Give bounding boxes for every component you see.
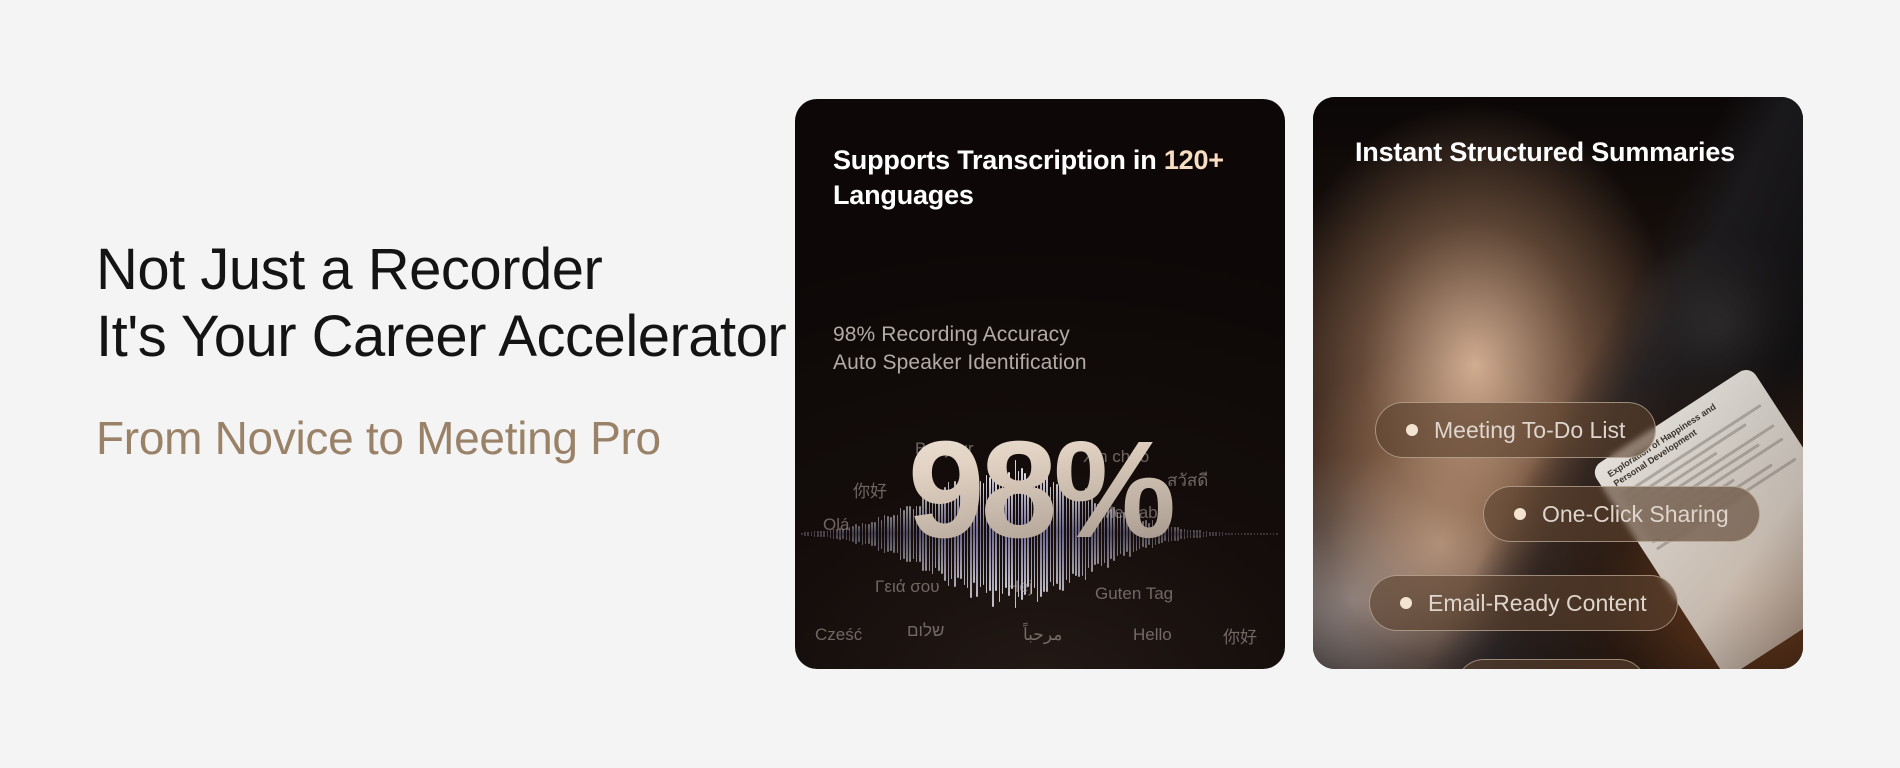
chip-email-ready-content[interactable]: Email-Ready Content xyxy=(1369,575,1678,631)
language-greeting: Hej xyxy=(1007,577,1033,597)
card-transcription-title-before: Supports Transcription in xyxy=(833,145,1164,175)
subheadline: From Novice to Meeting Pro xyxy=(96,413,796,464)
card-transcription-title-accent: 120+ xyxy=(1164,145,1224,175)
hero-section: Not Just a Recorder It's Your Career Acc… xyxy=(0,0,1900,768)
bullet-dot-icon xyxy=(1400,597,1412,609)
language-greeting: שלום xyxy=(907,621,944,641)
chip-label: Meeting To-Do List xyxy=(1434,417,1625,444)
card-transcription-title-after: Languages xyxy=(833,180,974,210)
card-summaries-title: Instant Structured Summaries xyxy=(1355,137,1735,168)
language-greeting: Hello xyxy=(1133,625,1172,645)
card-summaries[interactable]: Exploration of Happiness and Personal De… xyxy=(1313,97,1803,669)
chip-one-click-sharing[interactable]: One-Click Sharing xyxy=(1483,486,1760,542)
card-transcription-subtitle: 98% Recording Accuracy Auto Speaker Iden… xyxy=(833,321,1087,378)
headline-block: Not Just a Recorder It's Your Career Acc… xyxy=(96,236,796,463)
chip-mind-map[interactable]: Mind Map xyxy=(1456,659,1647,669)
language-greeting: Γειά σου xyxy=(875,577,940,597)
accuracy-stat: 98% xyxy=(795,421,1285,559)
language-greeting: Cześć xyxy=(815,625,862,645)
subtitle-speaker-id: Auto Speaker Identification xyxy=(833,349,1087,377)
card-transcription[interactable]: Supports Transcription in 120+ Languages… xyxy=(795,99,1285,669)
language-greeting: Guten Tag xyxy=(1095,584,1173,604)
language-greeting: 你好 xyxy=(1223,623,1257,648)
chip-label: Email-Ready Content xyxy=(1428,590,1647,617)
bullet-dot-icon xyxy=(1406,424,1418,436)
accuracy-visual: 98% BonjourXin chào你好สวัสดีMerhabaOláΓει… xyxy=(795,429,1285,669)
language-greeting: مرحباً xyxy=(1023,625,1062,645)
subtitle-accuracy: 98% Recording Accuracy xyxy=(833,321,1087,349)
chip-label: One-Click Sharing xyxy=(1542,501,1729,528)
card-transcription-title: Supports Transcription in 120+ Languages xyxy=(833,143,1251,212)
headline-line-2: It's Your Career Accelerator xyxy=(96,303,796,370)
bullet-dot-icon xyxy=(1514,508,1526,520)
chip-meeting-to-do-list[interactable]: Meeting To-Do List xyxy=(1375,402,1656,458)
headline-line-1: Not Just a Recorder xyxy=(96,236,796,303)
